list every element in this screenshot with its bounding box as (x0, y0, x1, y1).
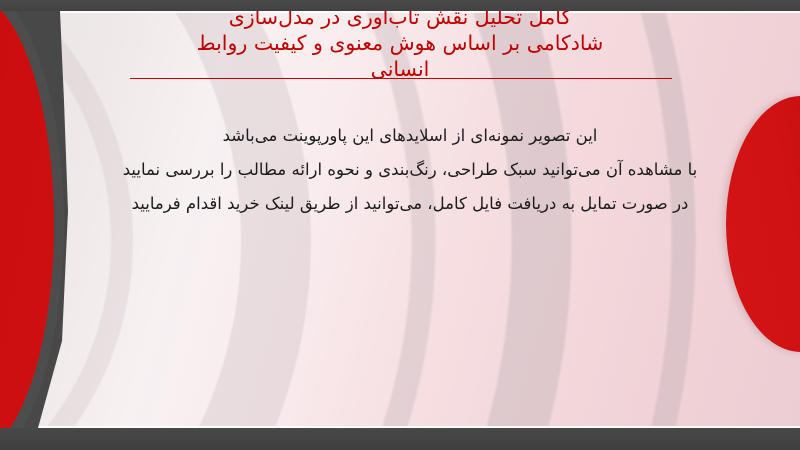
bottom-frame-band (0, 428, 800, 450)
slide-body-block: این تصویر نمونه‌ای از اسلایدهای این پاور… (120, 122, 700, 217)
body-line-2: با مشاهده آن می‌توانید سبک طراحی، رنگ‌بن… (120, 156, 700, 183)
slide-title: کامل تحلیل نقش تاب‌آوری در مدل‌سازی شادک… (120, 4, 680, 82)
presentation-slide: کامل تحلیل نقش تاب‌آوری در مدل‌سازی شادک… (0, 0, 800, 450)
title-divider-rule (130, 78, 672, 79)
slide-title-block: کامل تحلیل نقش تاب‌آوری در مدل‌سازی شادک… (120, 4, 680, 82)
body-line-3: در صورت تمایل به دریافت فایل کامل، می‌تو… (120, 190, 700, 217)
body-line-1: این تصویر نمونه‌ای از اسلایدهای این پاور… (120, 122, 700, 149)
top-frame-band (0, 0, 800, 11)
left-red-ellipse-decoration (0, 0, 54, 450)
